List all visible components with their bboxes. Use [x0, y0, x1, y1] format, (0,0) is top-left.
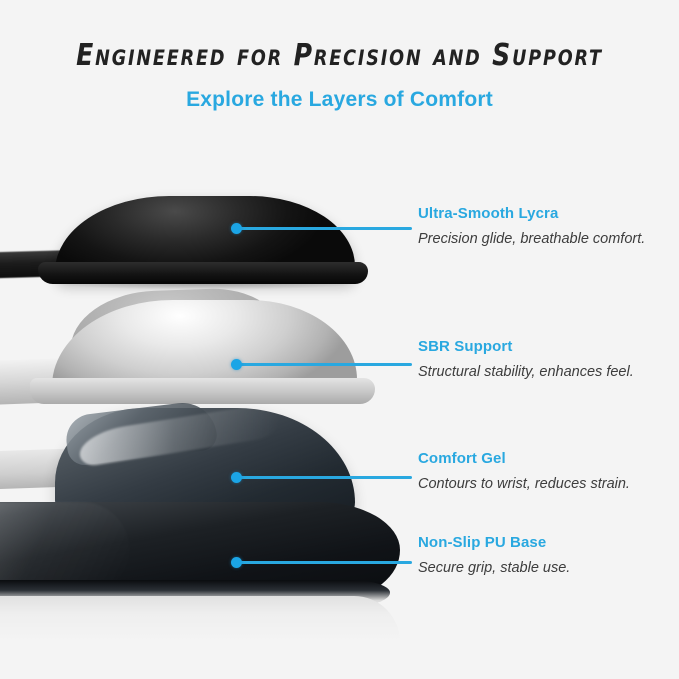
sbr-layer-lip	[30, 378, 375, 404]
callout-title-gel: Comfort Gel	[418, 450, 668, 468]
pu-base-layer-floor	[0, 596, 400, 642]
leader-dot-pu-base	[231, 557, 242, 568]
page-title: Engineered for Precision and Support	[24, 0, 655, 72]
header: Engineered for Precision and Support Exp…	[0, 0, 679, 112]
callout-title-pu-base: Non-Slip PU Base	[418, 534, 668, 552]
leader-dot-gel	[231, 472, 242, 483]
callout-lycra: Ultra-Smooth Lycra Precision glide, brea…	[418, 205, 668, 249]
callout-pu-base: Non-Slip PU Base Secure grip, stable use…	[418, 534, 668, 578]
leader-line-sbr	[236, 363, 412, 366]
leader-line-lycra	[236, 227, 412, 230]
callout-desc-gel: Contours to wrist, reduces strain.	[418, 468, 668, 494]
callout-desc-lycra: Precision glide, breathable comfort.	[418, 223, 668, 249]
page-subtitle: Explore the Layers of Comfort	[0, 72, 679, 112]
leader-line-pu-base	[236, 561, 412, 564]
callout-title-sbr: SBR Support	[418, 338, 668, 356]
leader-line-gel	[236, 476, 412, 479]
callout-desc-pu-base: Secure grip, stable use.	[418, 552, 668, 578]
leader-dot-lycra	[231, 223, 242, 234]
callout-gel: Comfort Gel Contours to wrist, reduces s…	[418, 450, 668, 494]
callout-sbr: SBR Support Structural stability, enhanc…	[418, 338, 668, 382]
pu-base-layer-sheen	[0, 502, 130, 592]
infographic-page: Engineered for Precision and Support Exp…	[0, 0, 679, 679]
product-exploded-view	[0, 150, 420, 620]
callout-title-lycra: Ultra-Smooth Lycra	[418, 205, 668, 223]
callout-desc-sbr: Structural stability, enhances feel.	[418, 356, 668, 382]
leader-dot-sbr	[231, 359, 242, 370]
